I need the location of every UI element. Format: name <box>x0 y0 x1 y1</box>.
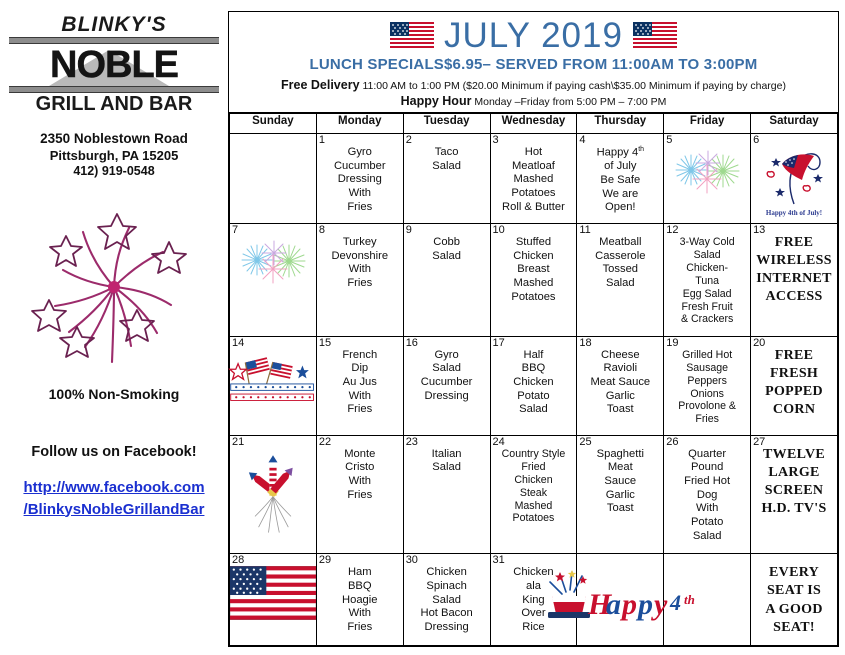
facebook-link[interactable]: http://www.facebook.com /BlinkysNobleGri… <box>0 477 228 521</box>
artwork-caption: Happy 4th of July! <box>758 209 830 217</box>
facebook-block: Follow us on Facebook! http://www.facebo… <box>0 444 228 521</box>
calendar-day-16[interactable]: 16Gyro Salad Cucumber Dressing <box>403 336 490 435</box>
promo-text: EVERY SEAT IS A GOOD SEAT! <box>751 554 837 639</box>
calendar-day-empty <box>664 554 751 646</box>
page-title: JULY 2019 <box>444 18 623 53</box>
happy-hour-text: Monday –Friday from 5:00 PM – 7:00 PM <box>474 96 666 108</box>
day-number: 29 <box>319 554 331 566</box>
day-artwork <box>230 436 316 538</box>
calendar-header: JULY 2019 <box>229 12 838 113</box>
calendar-day-28[interactable]: 28 <box>230 554 317 646</box>
usa-flag-icon <box>390 22 434 48</box>
promo-text: FREE FRESH POPPED CORN <box>751 337 837 422</box>
day-number: 20 <box>753 337 765 349</box>
day-menu-text: 3-Way Cold Salad Chicken- Tuna Egg Salad… <box>664 224 750 328</box>
day-number: 13 <box>753 224 765 236</box>
day-number: 18 <box>579 337 591 349</box>
promo-text: FREE WIRELESS INTERNET ACCESS <box>751 224 837 309</box>
calendar-day-13[interactable]: 13FREE WIRELESS INTERNET ACCESS <box>751 223 838 336</box>
calendar-day-11[interactable]: 11Meatball Casserole Tossed Salad <box>577 223 664 336</box>
calendar-day-3[interactable]: 3Hot Meatloaf Mashed Potatoes Roll & But… <box>490 134 577 224</box>
calendar-day-25[interactable]: 25Spaghetti Meat Sauce Garlic Toast <box>577 435 664 553</box>
calendar-day-1[interactable]: 1Gyro Cucumber Dressing With Fries <box>316 134 403 224</box>
logo-line-noble: NOBLE <box>9 44 219 86</box>
promo-text: TWELVE LARGE SCREEN H.D. TV'S <box>751 436 837 521</box>
free-delivery-text: 11:00 AM to 1:00 PM ($20.00 Minimum if p… <box>362 80 786 92</box>
day-number: 5 <box>666 134 672 146</box>
day-number: 6 <box>753 134 759 146</box>
calendar-day-18[interactable]: 18Cheese Ravioli Meat Sauce Garlic Toast <box>577 336 664 435</box>
day-number: 9 <box>406 224 412 236</box>
day-number: 14 <box>232 337 244 349</box>
day-menu-text: Quarter Pound Fried Hot Dog With Potato … <box>664 436 750 546</box>
free-delivery-line: Free Delivery 11:00 AM to 1:00 PM ($20.0… <box>229 78 838 92</box>
weekday-header-wednesday: Wednesday <box>490 114 577 134</box>
usa-flag-large-icon <box>230 566 316 620</box>
weekday-header-sunday: Sunday <box>230 114 317 134</box>
restaurant-logo: BLINKY'S NOBLE GRILL AND BAR <box>9 14 219 115</box>
calendar-day-21[interactable]: 21 <box>230 435 317 553</box>
day-menu-text: Stuffed Chicken Breast Mashed Potatoes <box>491 224 577 306</box>
calendar-day-7[interactable]: 7 <box>230 223 317 336</box>
address-street: 2350 Noblestown Road <box>0 131 228 148</box>
calendar-day-30[interactable]: 30Chicken Spinach Salad Hot Bacon Dressi… <box>403 554 490 646</box>
facebook-url-line1[interactable]: http://www.facebook.com <box>0 477 228 499</box>
day-number: 10 <box>493 224 505 236</box>
address-block: 2350 Noblestown Road Pittsburgh, PA 1520… <box>0 131 228 180</box>
fireworks-icon <box>19 202 209 372</box>
day-number: 28 <box>232 554 244 566</box>
day-number: 27 <box>753 436 765 448</box>
day-number: 17 <box>493 337 505 349</box>
day-menu-text: Spaghetti Meat Sauce Garlic Toast <box>577 436 663 518</box>
phone-number: 412) 919-0548 <box>0 164 228 180</box>
weekday-header-thursday: Thursday <box>577 114 664 134</box>
day-number: 22 <box>319 436 331 448</box>
happy-hour-label: Happy Hour <box>401 94 472 108</box>
logo-line-blinkys: BLINKY'S <box>9 14 219 35</box>
calendar-panel: JULY 2019 <box>228 11 839 647</box>
lunch-specials-line: LUNCH SPECIALS$6.95– SERVED FROM 11:00AM… <box>229 56 838 73</box>
day-menu-text: Taco Salad <box>404 134 490 175</box>
address-city-state-zip: Pittsburgh, PA 15205 <box>0 148 228 164</box>
calendar-day-8[interactable]: 8Turkey Devonshire With Fries <box>316 223 403 336</box>
facebook-url-line2[interactable]: /BlinkysNobleGrillandBar <box>0 499 228 521</box>
calendar-day-10[interactable]: 10Stuffed Chicken Breast Mashed Potatoes <box>490 223 577 336</box>
weekday-header-tuesday: Tuesday <box>403 114 490 134</box>
calendar-day-26[interactable]: 26Quarter Pound Fried Hot Dog With Potat… <box>664 435 751 553</box>
day-number: 30 <box>406 554 418 566</box>
facebook-prompt: Follow us on Facebook! <box>0 444 228 460</box>
day-number: 19 <box>666 337 678 349</box>
day-number: 4 <box>579 134 585 146</box>
fireworks-burst-icon <box>667 146 747 202</box>
day-menu-text: Chicken Spinach Salad Hot Bacon Dressing <box>404 554 490 636</box>
calendar-day-empty[interactable] <box>577 554 664 646</box>
day-menu-text: Gyro Cucumber Dressing With Fries <box>317 134 403 216</box>
day-number: 26 <box>666 436 678 448</box>
day-number: 12 <box>666 224 678 236</box>
day-number: 3 <box>493 134 499 146</box>
calendar-day-17[interactable]: 17Half BBQ Chicken Potato Salad <box>490 336 577 435</box>
day-menu-text: Grilled Hot Sausage Peppers Onions Provo… <box>664 337 750 429</box>
day-number: 8 <box>319 224 325 236</box>
calendar-day-24[interactable]: 24Country Style Fried Chicken Steak Mash… <box>490 435 577 553</box>
calendar-day-22[interactable]: 22Monte Cristo With Fries <box>316 435 403 553</box>
day-artwork: Happy 4th of July! <box>751 134 837 217</box>
day-menu-text: Half BBQ Chicken Potato Salad <box>491 337 577 419</box>
day-artwork <box>664 134 750 202</box>
calendar-day-14[interactable]: 14 <box>230 336 317 435</box>
day-menu-text: Turkey Devonshire With Fries <box>317 224 403 293</box>
calendar-day-6[interactable]: 6Happy 4th of July! <box>751 134 838 224</box>
weekday-header-saturday: Saturday <box>751 114 838 134</box>
calendar-week-row: 78Turkey Devonshire With Fries9Cobb Sala… <box>230 223 838 336</box>
fireworks-burst-icon <box>233 236 313 292</box>
flags-banner-icon <box>227 349 319 406</box>
calendar-day-2[interactable]: 2Taco Salad <box>403 134 490 224</box>
day-menu-text: Cobb Salad <box>404 224 490 265</box>
flag-swirl-icon <box>758 146 830 208</box>
calendar-day-15[interactable]: 15French Dip Au Jus With Fries <box>316 336 403 435</box>
day-menu-text: French Dip Au Jus With Fries <box>317 337 403 419</box>
logo-noble-block: NOBLE <box>9 44 219 86</box>
weekday-header-friday: Friday <box>664 114 751 134</box>
day-number: 25 <box>579 436 591 448</box>
calendar-week-row: 2122Monte Cristo With Fries23Italian Sal… <box>230 435 838 553</box>
calendar-week-row: 1415French Dip Au Jus With Fries16Gyro S… <box>230 336 838 435</box>
day-number: 23 <box>406 436 418 448</box>
day-number: 1 <box>319 134 325 146</box>
day-artwork <box>577 554 663 630</box>
calendar-day-23[interactable]: 23Italian Salad <box>403 435 490 553</box>
day-menu-text: Cheese Ravioli Meat Sauce Garlic Toast <box>577 337 663 419</box>
day-number: 2 <box>406 134 412 146</box>
calendar-day-20[interactable]: 20FREE FRESH POPPED CORN <box>751 336 838 435</box>
logo-line-grill-and-bar: GRILL AND BAR <box>9 94 219 115</box>
day-number: 16 <box>406 337 418 349</box>
day-number: 11 <box>579 224 590 236</box>
calendar-grid: Sunday Monday Tuesday Wednesday Thursday… <box>229 113 838 646</box>
calendar-day-empty <box>230 134 317 224</box>
logo-top-bar <box>9 37 219 44</box>
day-artwork <box>230 224 316 292</box>
weekday-header-monday: Monday <box>316 114 403 134</box>
day-menu-text: Ham BBQ Hoagie With Fries <box>317 554 403 636</box>
day-number: 21 <box>232 436 244 448</box>
calendar-day-12[interactable]: 123-Way Cold Salad Chicken- Tuna Egg Sal… <box>664 223 751 336</box>
calendar-day-29[interactable]: 29Ham BBQ Hoagie With Fries <box>316 554 403 646</box>
calendar-page: BLINKY'S NOBLE GRILL AND BAR 2350 Nobles… <box>0 0 845 655</box>
calendar-day-empty[interactable]: EVERY SEAT IS A GOOD SEAT! <box>751 554 838 646</box>
calendar-day-9[interactable]: 9Cobb Salad <box>403 223 490 336</box>
day-menu-text: Happy 4th of July Be Safe We are Open! <box>577 134 663 217</box>
calendar-day-19[interactable]: 19Grilled Hot Sausage Peppers Onions Pro… <box>664 336 751 435</box>
day-number: 31 <box>493 554 505 566</box>
calendar-day-5[interactable]: 5 <box>664 134 751 224</box>
calendar-day-27[interactable]: 27TWELVE LARGE SCREEN H.D. TV'S <box>751 435 838 553</box>
calendar-week-row: 1Gyro Cucumber Dressing With Fries2Taco … <box>230 134 838 224</box>
day-number: 7 <box>232 224 238 236</box>
non-smoking-notice: 100% Non-Smoking <box>0 386 228 402</box>
calendar-body: 1Gyro Cucumber Dressing With Fries2Taco … <box>230 134 838 646</box>
usa-flag-icon <box>633 22 677 48</box>
day-number: 24 <box>493 436 505 448</box>
rockets-icon <box>237 448 309 538</box>
calendar-week-row: 2829Ham BBQ Hoagie With Fries30Chicken S… <box>230 554 838 646</box>
logo-bottom-bar <box>9 86 219 93</box>
day-menu-text: Country Style Fried Chicken Steak Mashed… <box>491 436 577 528</box>
day-number: 15 <box>319 337 331 349</box>
brand-sidebar: BLINKY'S NOBLE GRILL AND BAR 2350 Nobles… <box>0 0 228 655</box>
calendar-title-row: JULY 2019 <box>229 15 838 55</box>
happy-hour-line: Happy Hour Monday –Friday from 5:00 PM –… <box>229 94 838 108</box>
day-menu-text: Hot Meatloaf Mashed Potatoes Roll & Butt… <box>491 134 577 216</box>
calendar-day-4[interactable]: 4Happy 4th of July Be Safe We are Open! <box>577 134 664 224</box>
weekday-header-row: Sunday Monday Tuesday Wednesday Thursday… <box>230 114 838 134</box>
free-delivery-label: Free Delivery <box>281 78 360 92</box>
ordinal-suffix: th <box>638 146 644 153</box>
